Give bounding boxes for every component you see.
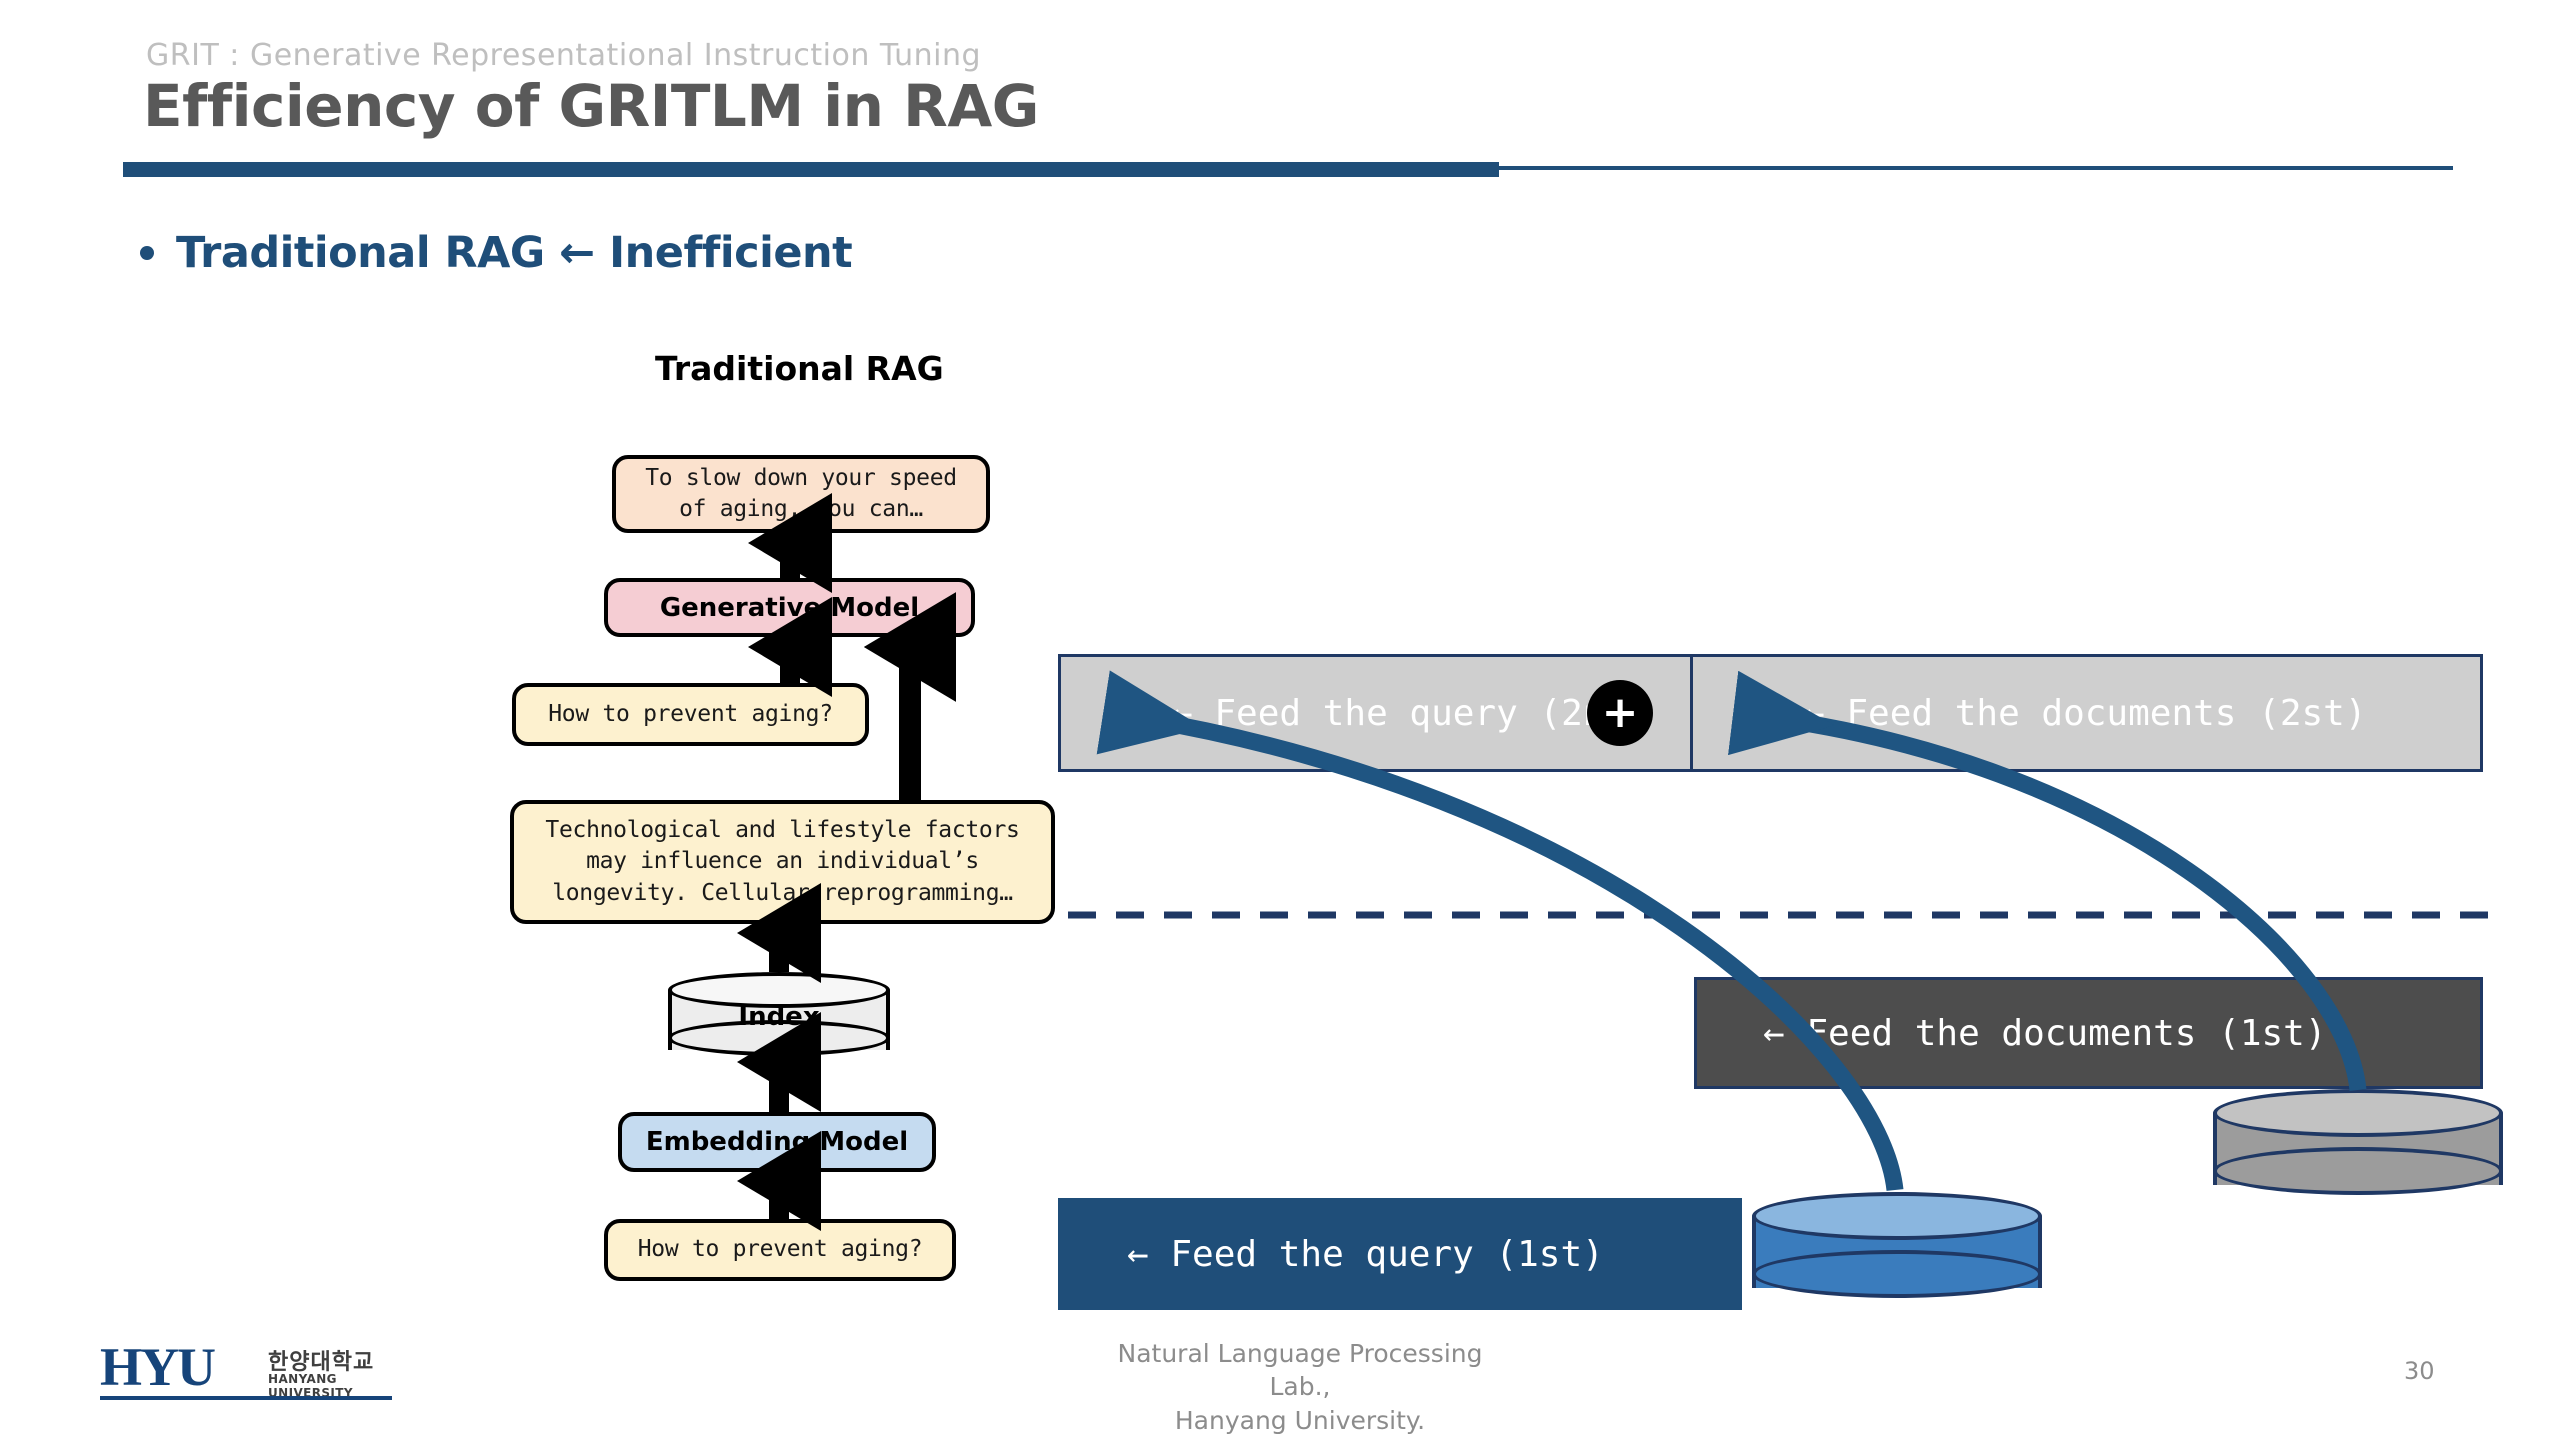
banner-feed-documents-2nd-text: ← Feed the documents (2st)	[1803, 693, 2367, 734]
node-embedding-model-text: Embedding Model	[646, 1127, 908, 1157]
blue-cylinder-top	[1752, 1192, 2042, 1240]
bullet-label: Traditional RAG ← Inefficient	[176, 228, 852, 278]
banner-feed-documents-1st-text: ← Feed the documents (1st)	[1763, 1013, 2327, 1054]
header-eyebrow: GRIT : Generative Representational Instr…	[146, 38, 981, 73]
node-answer-text: To slow down your speed of aging, you ca…	[645, 463, 957, 525]
logo-wordmark: HYU	[100, 1336, 214, 1398]
page-number: 30	[2404, 1357, 2435, 1385]
slide-header: GRIT : Generative Representational Instr…	[0, 0, 2560, 180]
banner-feed-query-1st: ← Feed the query (1st)	[1058, 1198, 1742, 1310]
bullet-dot-icon	[140, 246, 154, 260]
node-embedding-model: Embedding Model	[618, 1112, 936, 1172]
node-answer: To slow down your speed of aging, you ca…	[612, 455, 990, 533]
node-generative-model-text: Generative Model	[660, 593, 919, 623]
vector-db-blue-cylinder	[1752, 1192, 2042, 1312]
footer-lab-line1: Natural Language Processing Lab.,	[1100, 1337, 1500, 1404]
blue-cylinder-bottom	[1752, 1250, 2042, 1298]
header-rule-thin	[1499, 166, 2453, 170]
banner-feed-query-2nd-text: ← Feed the query (2nd)	[1171, 693, 1648, 734]
node-query-bottom-text: How to prevent aging?	[638, 1234, 923, 1265]
banner-feed-query-1st-text: ← Feed the query (1st)	[1127, 1234, 1604, 1275]
node-query-bottom: How to prevent aging?	[604, 1219, 956, 1281]
footer-lab-note: Natural Language Processing Lab., Hanyan…	[1100, 1337, 1500, 1437]
gray-cylinder-bottom	[2213, 1147, 2503, 1195]
banner-feed-documents-1st: ← Feed the documents (1st)	[1694, 977, 2483, 1089]
plus-badge-icon: +	[1587, 680, 1653, 746]
header-rule-thick	[123, 162, 1499, 177]
node-query-top-text: How to prevent aging?	[548, 699, 833, 730]
gray-cylinder-top	[2213, 1089, 2503, 1137]
page-title: Efficiency of GRITLM in RAG	[143, 72, 1039, 140]
node-retrieved-docs: Technological and lifestyle factors may …	[510, 800, 1055, 924]
node-index-text: Index	[668, 972, 890, 1062]
diagram-title: Traditional RAG	[655, 349, 944, 388]
logo-underline	[100, 1396, 392, 1400]
banner-feed-documents-2nd: ← Feed the documents (2st)	[1690, 654, 2483, 772]
bullet-item: Traditional RAG ← Inefficient	[140, 228, 852, 278]
plus-badge-text: +	[1602, 691, 1639, 735]
node-query-top: How to prevent aging?	[512, 683, 869, 746]
node-retrieved-docs-text: Technological and lifestyle factors may …	[545, 815, 1019, 908]
footer-lab-line2: Hanyang University.	[1100, 1404, 1500, 1437]
curve-query-to-generator	[1120, 715, 1895, 1190]
vector-db-gray-cylinder	[2213, 1089, 2503, 1209]
node-index-cylinder: Index	[668, 972, 890, 1062]
node-generative-model: Generative Model	[604, 578, 975, 637]
hyu-logo: HYU 한양대학교 HANYANG UNIVERSITY	[100, 1340, 400, 1402]
